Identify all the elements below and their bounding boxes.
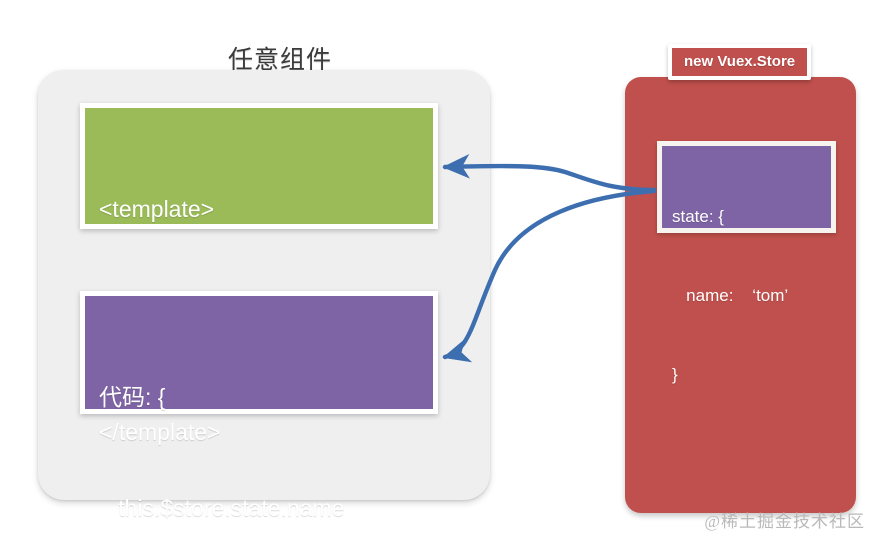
template-code-line-1: <template> — [99, 191, 419, 228]
store-label-badge: new Vuex.Store — [668, 44, 811, 80]
template-code-block: <template> {{ $store.state.name}} </temp… — [80, 103, 438, 229]
state-block: state: { name: ‘tom’ } — [657, 141, 836, 233]
script-code-line-2: this.$store.state.name — [99, 490, 419, 527]
script-code-line-1: 代码: { — [99, 379, 419, 416]
script-code-block: 代码: { this.$store.state.name } — [80, 291, 438, 414]
watermark: @稀土掘金技术社区 — [704, 507, 865, 532]
state-line-2: name: ‘tom’ — [672, 283, 821, 309]
diagram-canvas: 任意组件 <template> {{ $store.state.name}} <… — [0, 0, 877, 540]
state-line-3: } — [672, 362, 821, 388]
state-line-1: state: { — [672, 204, 821, 230]
